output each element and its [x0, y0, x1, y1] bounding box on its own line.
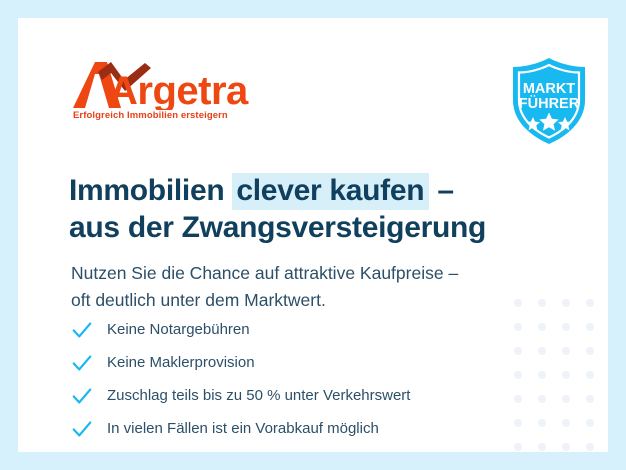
- decorative-dot: [586, 323, 594, 331]
- check-icon: [71, 385, 93, 407]
- content-card: Argetra Erfolgreich Immobilien ersteiger…: [18, 18, 608, 452]
- list-item-label: Keine Notargebühren: [107, 320, 250, 340]
- decorative-dot: [586, 395, 594, 403]
- headline-highlight: clever kaufen: [232, 173, 429, 210]
- decorative-dot: [586, 347, 594, 355]
- svg-text:Argetra: Argetra: [109, 69, 249, 110]
- subheadline: Nutzen Sie die Chance auf attraktive Kau…: [71, 260, 551, 314]
- list-item-label: In vielen Fällen ist ein Vorabkauf mögli…: [107, 419, 379, 439]
- subheadline-line2: oft deutlich unter dem Marktwert.: [71, 290, 326, 310]
- decorative-dot: [562, 443, 570, 451]
- list-item: Keine Notargebühren: [71, 316, 541, 344]
- decorative-dot: [562, 323, 570, 331]
- decorative-dot: [562, 419, 570, 427]
- decorative-dot: [562, 395, 570, 403]
- list-item: In vielen Fällen ist ein Vorabkauf mögli…: [71, 415, 541, 443]
- markt-fuehrer-badge: MARKT FÜHRER: [507, 56, 591, 146]
- headline-part2: –: [429, 174, 453, 207]
- list-item: Keine Maklerprovision: [71, 349, 541, 377]
- decorative-dot: [586, 299, 594, 307]
- decorative-dot: [562, 347, 570, 355]
- headline-part1: Immobilien: [69, 174, 232, 207]
- decorative-dot: [586, 419, 594, 427]
- check-icon: [71, 319, 93, 341]
- badge-line2: FÜHRER: [519, 95, 580, 112]
- decorative-dot: [562, 299, 570, 307]
- shield-icon: MARKT FÜHRER: [507, 56, 591, 146]
- decorative-dot: [586, 443, 594, 451]
- headline: Immobilien clever kaufen – aus der Zwang…: [69, 172, 569, 246]
- benefits-list: Keine Notargebühren Keine Maklerprovisio…: [71, 316, 541, 448]
- decorative-dot: [586, 371, 594, 379]
- logo-tagline: Erfolgreich Immobilien ersteigern: [73, 110, 228, 121]
- argetra-logo: Argetra Erfolgreich Immobilien ersteiger…: [71, 60, 261, 128]
- argetra-logo-mark: Argetra: [71, 60, 261, 110]
- check-icon: [71, 352, 93, 374]
- promo-banner: Argetra Erfolgreich Immobilien ersteiger…: [0, 0, 626, 470]
- headline-line2: aus der Zwangsversteigerung: [69, 209, 569, 246]
- check-icon: [71, 418, 93, 440]
- list-item-label: Keine Maklerprovision: [107, 353, 255, 373]
- list-item-label: Zuschlag teils bis zu 50 % unter Verkehr…: [107, 386, 410, 406]
- subheadline-line1: Nutzen Sie die Chance auf attraktive Kau…: [71, 263, 458, 283]
- decorative-dot: [562, 371, 570, 379]
- badge-line1: MARKT: [523, 81, 575, 97]
- list-item: Zuschlag teils bis zu 50 % unter Verkehr…: [71, 382, 541, 410]
